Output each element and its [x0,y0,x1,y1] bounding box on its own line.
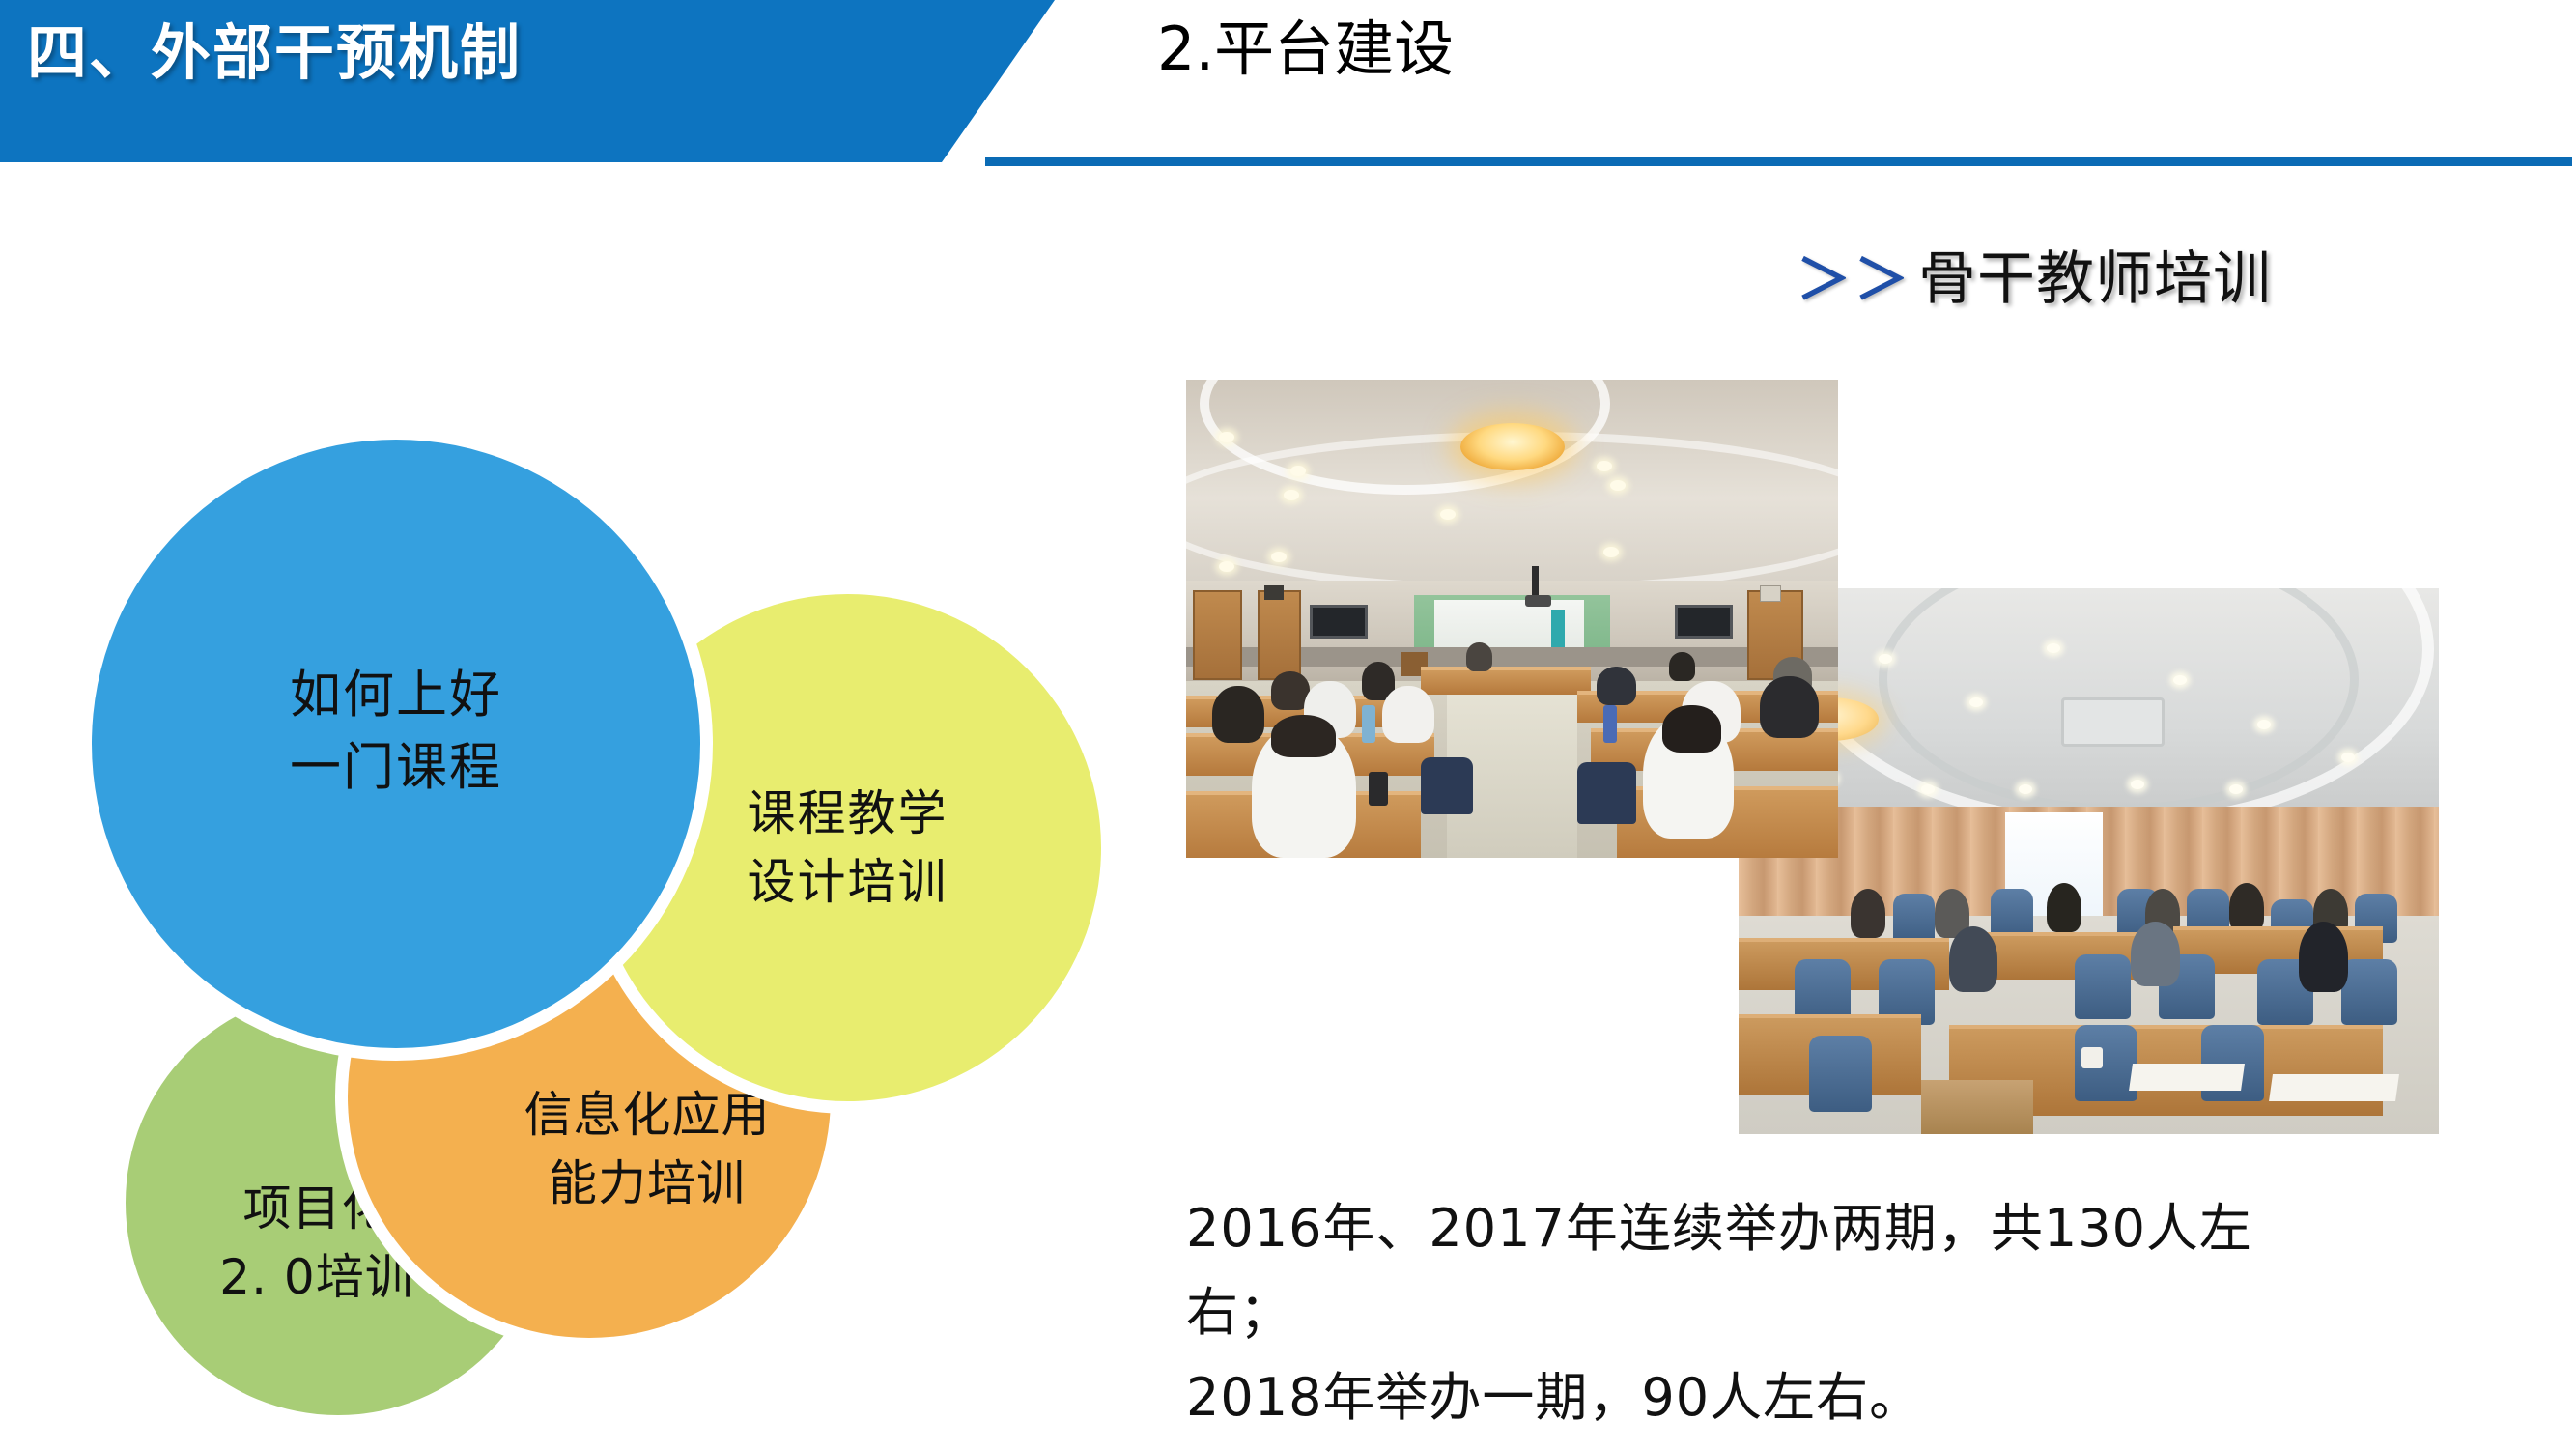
section-title: 2.平台建设 [1157,19,1454,79]
header-banner-title: 四、外部干预机制 [27,23,522,83]
subtitle-row: ＞＞ 骨干教师培训 [1797,232,2272,316]
body-line-1: 2016年、2017年连续举办两期，共130人左 [1186,1186,2480,1270]
photo-conference-room [1739,588,2439,1134]
body-line-3: 2018年举办一期，90人左右。 [1186,1355,2480,1439]
venn-circle-orange-label: 信息化应用 能力培训 [524,1081,771,1218]
venn-diagram: 项目化 2. 0培训 信息化应用 能力培训 课程教学 设计培训 如何上好 一门课… [92,440,1145,1450]
venn-circle-blue-label: 如何上好 一门课程 [290,659,502,830]
body-paragraph: 2016年、2017年连续举办两期，共130人左 右； 2018年举办一期，90… [1186,1186,2480,1439]
subtitle-label: 骨干教师培训 [1918,232,2272,316]
venn-circle-blue: 如何上好 一门课程 [92,440,700,1048]
body-line-2: 右； [1186,1270,2480,1354]
header-divider-rule [985,157,2572,166]
venn-circle-yellow-label: 课程教学 设计培训 [748,780,948,917]
photo-lecture-hall [1186,380,1838,858]
double-chevron-right-icon: ＞＞ [1797,237,1912,315]
header-banner: 四、外部干预机制 [0,0,1055,162]
